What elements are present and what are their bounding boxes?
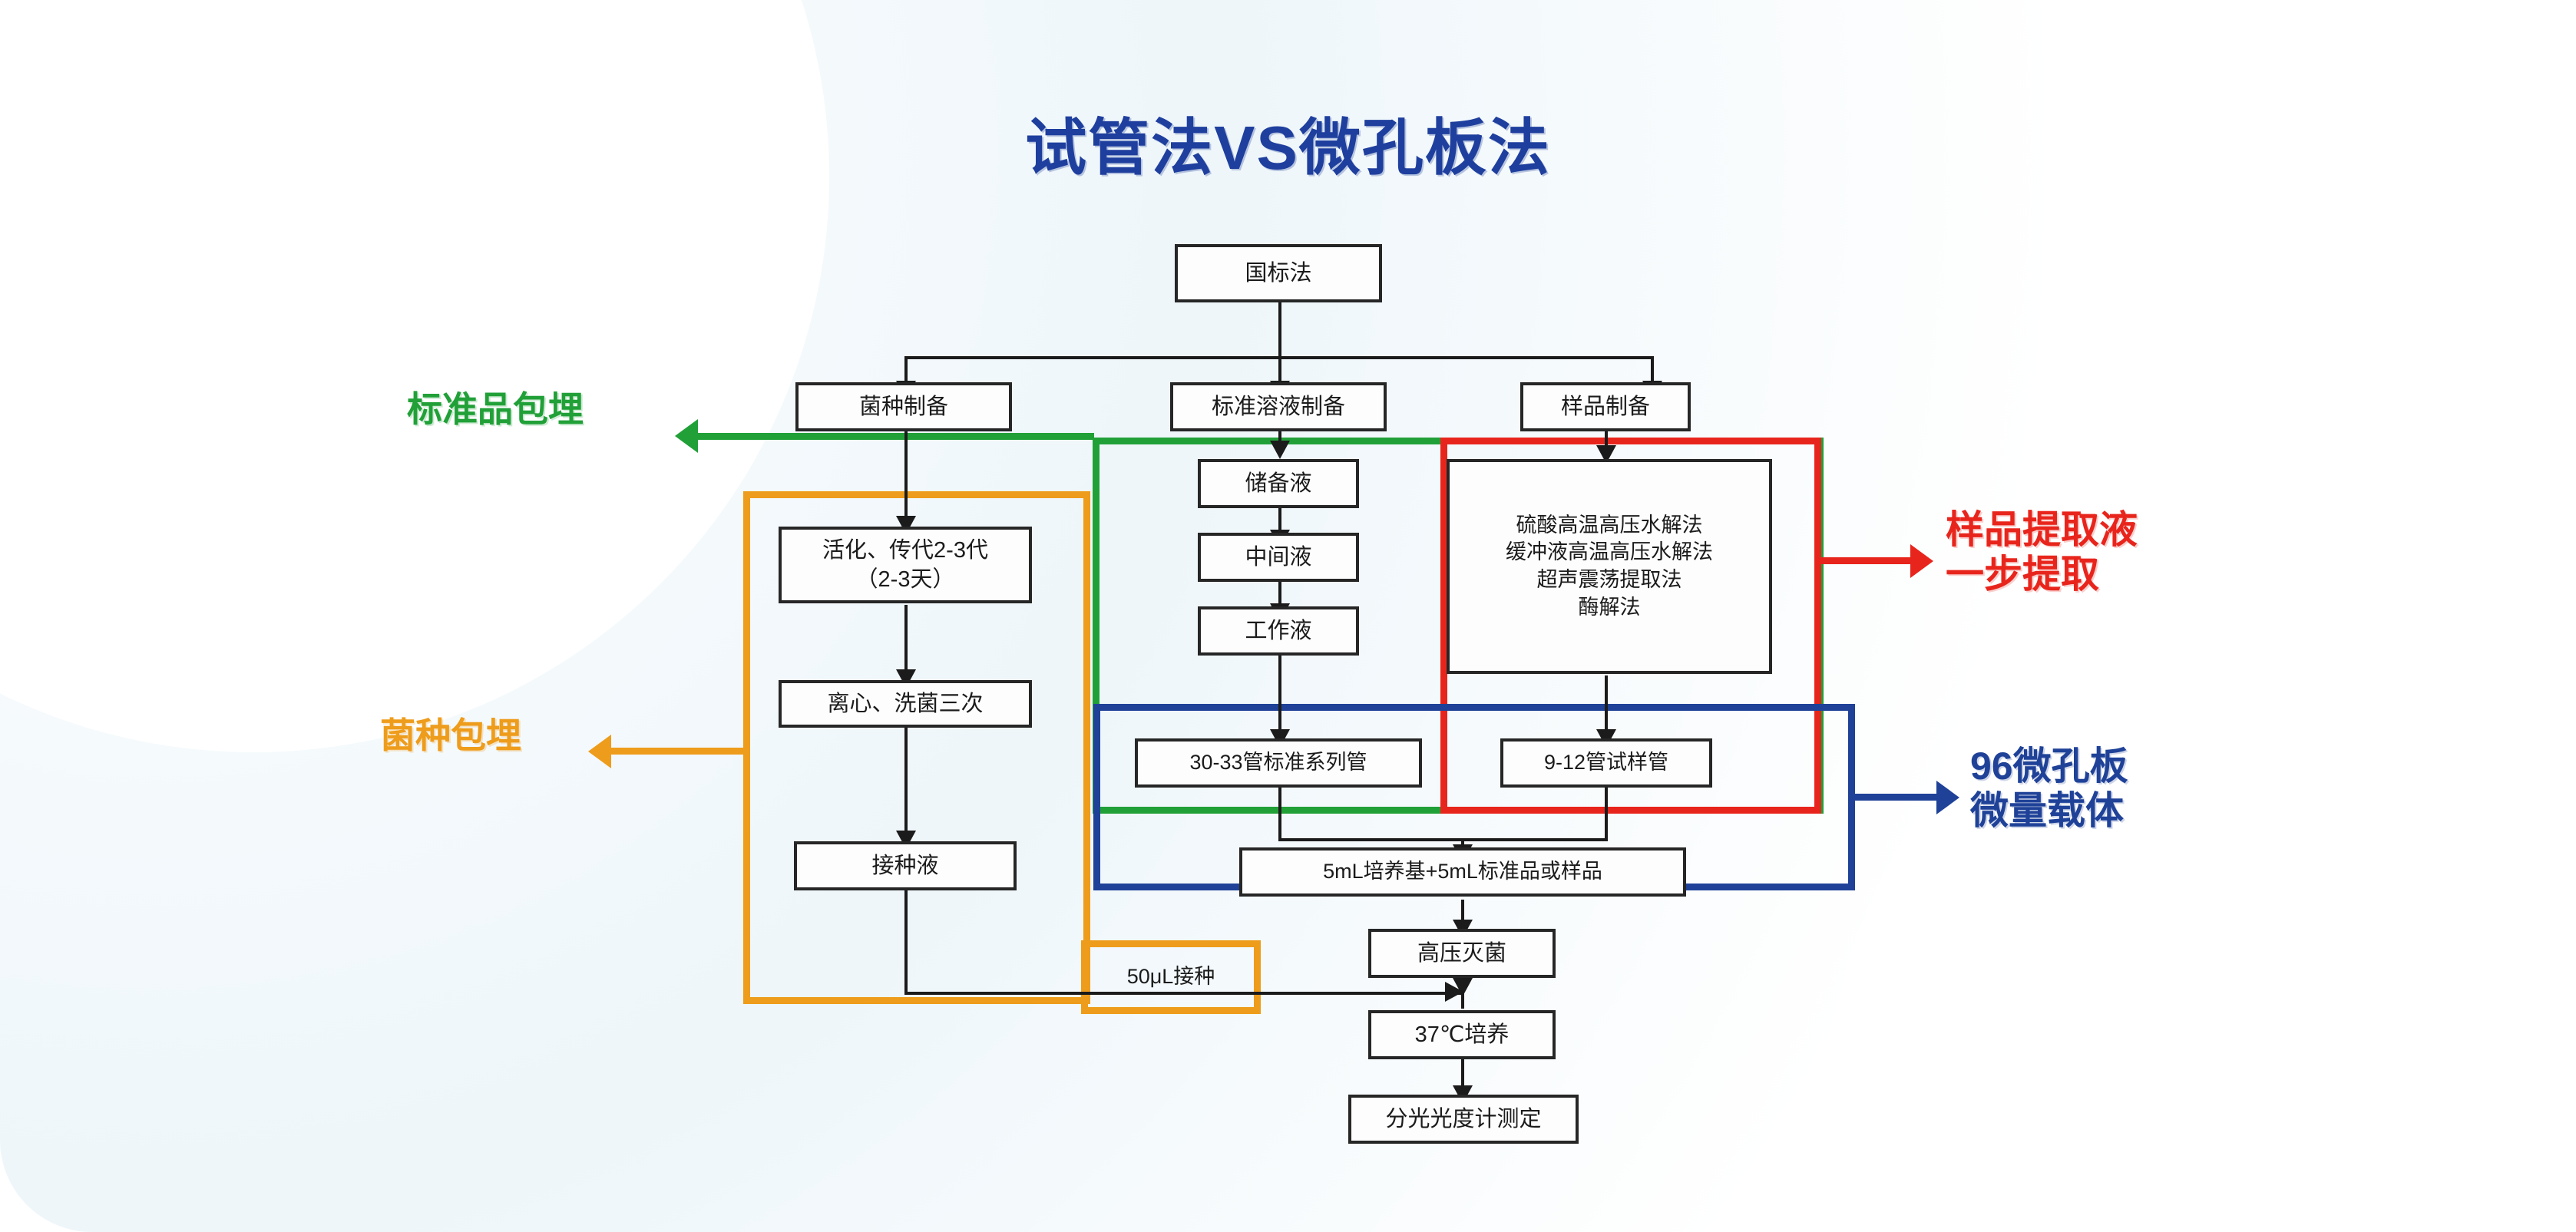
node-inoculum[interactable]: 接种液 [794,841,1017,890]
page-title: 试管法VS微孔板法 [0,98,2576,187]
node-standard-series-tubes[interactable]: 30-33管标准系列管 [1135,738,1422,788]
callout-label-sample-extract: 样品提取液 一步提取 [1946,507,2138,596]
callout-arrow-sample-extract-bar [1817,557,1915,564]
callout-arrowhead-sample-extract [1910,544,1933,578]
connector-tubes-join [1430,838,1608,841]
node-standard-prep[interactable]: 标准溶液制备 [1170,382,1387,431]
node-intermediate-solution[interactable]: 中间液 [1198,533,1359,582]
connector-inoculate-bus [904,992,1463,995]
callout-arrow-strain-encapsulation-bar [608,748,748,755]
node-sample-prep[interactable]: 样品制备 [1520,382,1691,431]
node-culture-prep[interactable]: 菌种制备 [795,382,1012,431]
callout-arrowhead-standard-encapsulation [675,419,698,453]
connector-centrifuge-to-inoculum [904,728,908,843]
node-medium-mix[interactable]: 5mL培养基+5mL标准品或样品 [1239,847,1686,897]
callout-label-strain-encapsulation: 菌种包埋 [380,715,521,756]
node-sample-tubes[interactable]: 9-12管试样管 [1500,738,1712,788]
callout-arrow-standard-encapsulation-bar [695,433,1094,440]
arrowhead-incubate [1453,978,1473,996]
node-spectrophotometer[interactable]: 分光光度计测定 [1348,1095,1579,1144]
arrowhead-stock [1270,441,1290,459]
node-extraction-methods[interactable]: 硫酸高温高压水解法 缓冲液高温高压水解法 超声震荡提取法 酶解法 [1447,459,1772,674]
callout-arrow-microplate-carrier-bar [1849,794,1941,801]
node-centrifuge[interactable]: 离心、洗菌三次 [779,680,1032,728]
callout-label-standard-encapsulation: 标准品包埋 [407,389,584,430]
node-stock-solution[interactable]: 储备液 [1198,459,1359,508]
node-working-solution[interactable]: 工作液 [1198,606,1359,656]
node-root[interactable]: 国标法 [1175,244,1382,302]
callout-arrowhead-microplate-carrier [1936,781,1959,814]
node-incubate[interactable]: 37℃培养 [1368,1010,1556,1059]
node-autoclave[interactable]: 高压灭菌 [1368,929,1556,978]
callout-arrowhead-strain-encapsulation [588,735,611,768]
slide-canvas: 试管法VS微孔板法 [0,0,2576,1232]
connector-tubes-to-mix [1605,780,1608,841]
callout-label-microplate-carrier: 96微孔板 微量载体 [1970,744,2128,833]
connector-series-to-mix [1278,780,1281,841]
connector-root-down [1278,301,1281,358]
node-activate[interactable]: 活化、传代2-3代 （2-3天） [779,527,1032,603]
connector-inoculum-down [904,890,908,995]
connector-working-to-series [1278,656,1281,740]
